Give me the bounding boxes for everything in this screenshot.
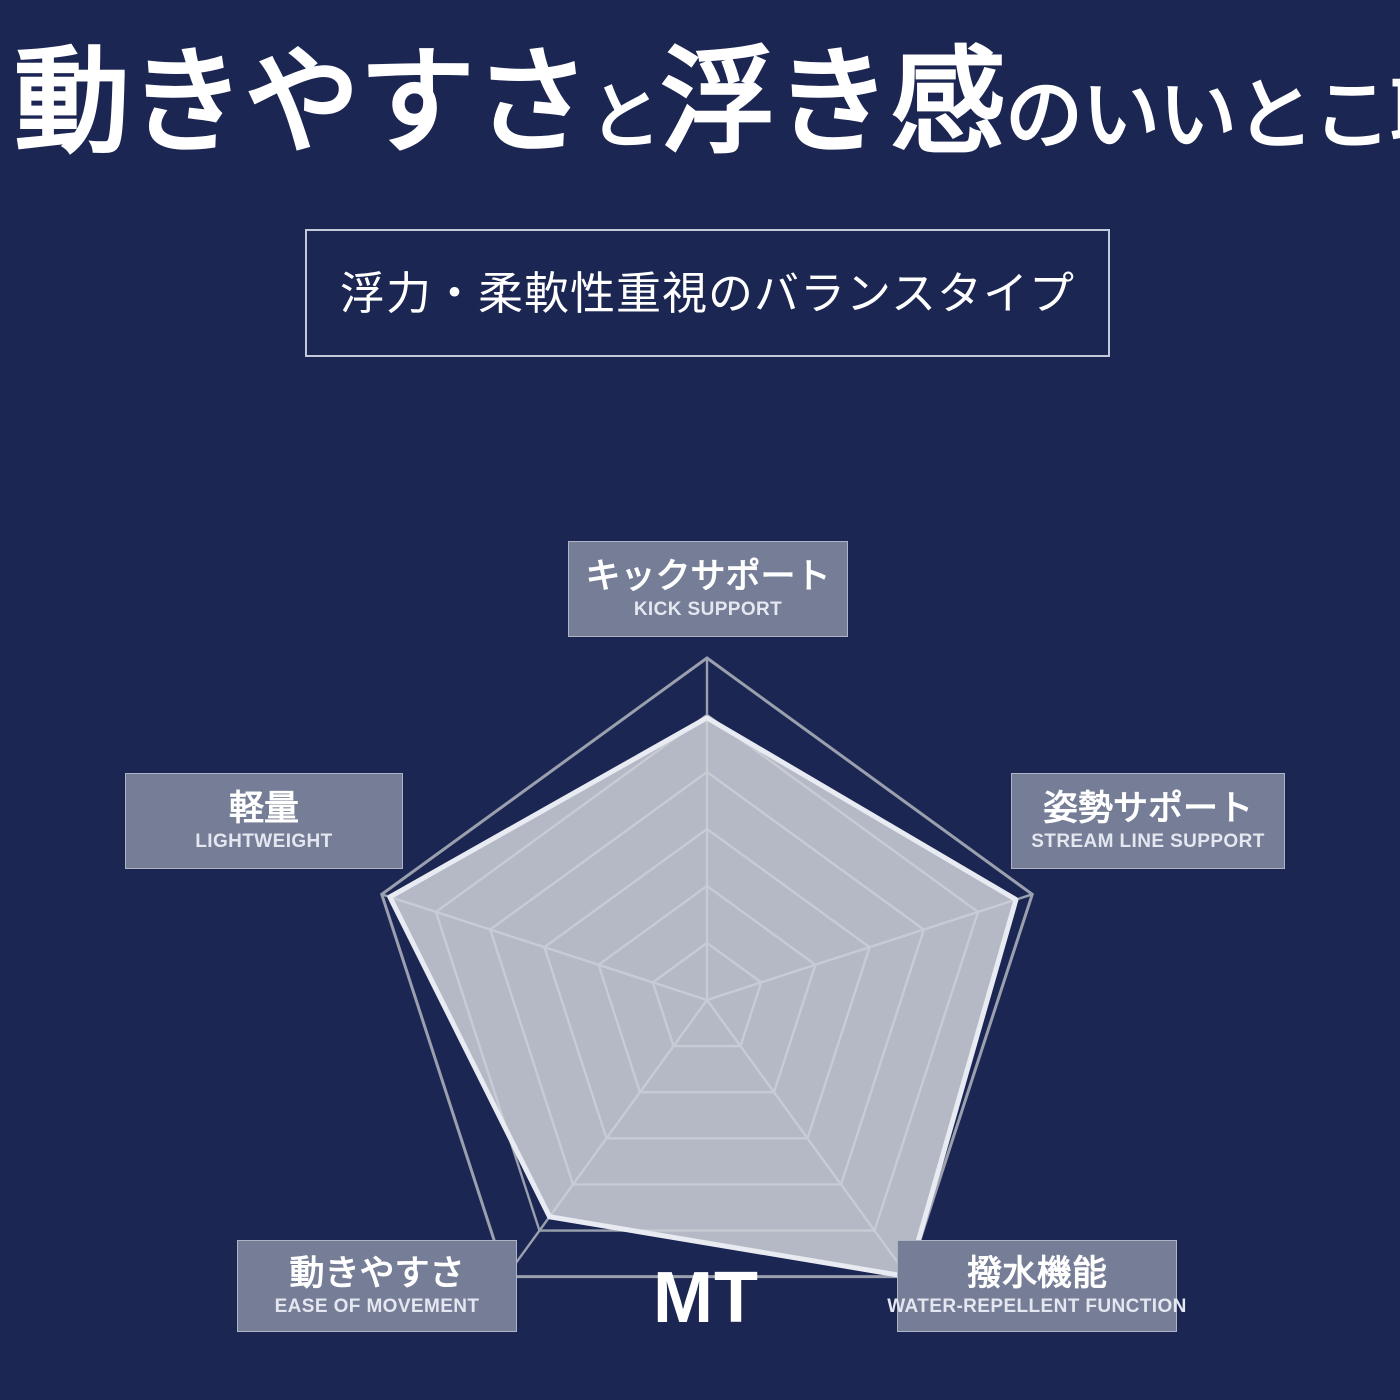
axis-label-water-repellent-function[interactable]: 撥水機能 WATER-REPELLENT FUNCTION bbox=[897, 1240, 1177, 1332]
axis-label-kick-support[interactable]: キックサポート KICK SUPPORT bbox=[568, 541, 848, 637]
axis-label-stream-line-support-jp: 姿勢サポート bbox=[1043, 789, 1253, 828]
axis-label-lightweight-jp: 軽量 bbox=[229, 789, 299, 828]
series-name-label: MT bbox=[596, 1262, 816, 1334]
axis-label-lightweight-en: LIGHTWEIGHT bbox=[195, 831, 332, 854]
axis-label-lightweight[interactable]: 軽量 LIGHTWEIGHT bbox=[125, 773, 403, 869]
radar-chart-svg bbox=[0, 0, 1400, 1400]
radar-series-mt bbox=[390, 718, 1016, 1277]
axis-label-ease-of-movement[interactable]: 動きやすさ EASE OF MOVEMENT bbox=[237, 1240, 517, 1332]
axis-label-stream-line-support-en: STREAM LINE SUPPORT bbox=[1031, 831, 1265, 854]
radar-chart: キックサポート KICK SUPPORT 姿勢サポート STREAM LINE … bbox=[0, 0, 1400, 1400]
axis-label-ease-of-movement-en: EASE OF MOVEMENT bbox=[275, 1296, 480, 1319]
axis-label-ease-of-movement-jp: 動きやすさ bbox=[289, 1254, 464, 1293]
axis-label-water-repellent-function-jp: 撥水機能 bbox=[967, 1254, 1107, 1293]
axis-label-stream-line-support[interactable]: 姿勢サポート STREAM LINE SUPPORT bbox=[1011, 773, 1285, 869]
axis-label-kick-support-en: KICK SUPPORT bbox=[634, 599, 782, 622]
axis-label-kick-support-jp: キックサポート bbox=[585, 557, 830, 596]
axis-label-water-repellent-function-en: WATER-REPELLENT FUNCTION bbox=[887, 1296, 1187, 1319]
radar-data-polygon bbox=[390, 718, 1016, 1277]
